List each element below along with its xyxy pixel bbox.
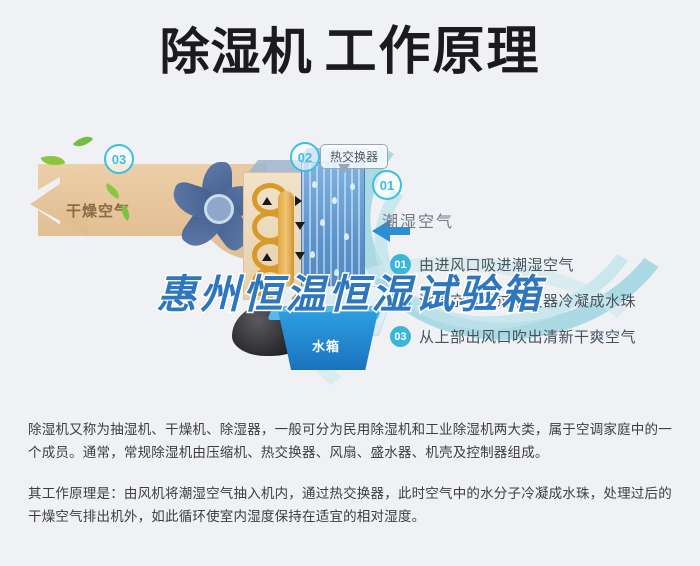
flow-arrow-up-icon <box>262 253 272 261</box>
dry-air-label: 干燥空气 <box>66 200 130 221</box>
callout-pointer-icon <box>338 164 350 174</box>
dehumidifier-diagram: 干燥空气 <box>0 108 700 390</box>
water-droplet-icon <box>320 219 325 226</box>
water-droplet-icon <box>344 233 349 240</box>
water-droplet-icon <box>350 183 355 190</box>
water-droplet-icon <box>310 251 315 258</box>
watermark-text: 惠州恒温恒湿试验箱 <box>0 262 700 320</box>
water-tank-label: 水箱 <box>312 336 340 355</box>
list-item: 03 从上部出风口吹出清新干爽空气 <box>390 326 682 347</box>
water-droplet-icon <box>312 181 317 188</box>
page-title: 除湿机工作原理 <box>0 22 700 83</box>
flow-arrow-down-icon <box>295 222 305 230</box>
step-text: 从上部出风口吹出清新干爽空气 <box>419 326 636 347</box>
leaf-icon <box>73 131 93 152</box>
callout-badge-03: 03 <box>104 144 134 174</box>
step-number-badge: 03 <box>390 326 411 347</box>
fan-hub-icon <box>204 194 234 224</box>
description-paragraph-1: 除湿机又称为抽湿机、干燥机、除湿器，一般可分为民用除湿机和工业除湿机两大类，属于… <box>28 418 676 464</box>
heat-exchanger-callout: 热交换器 <box>320 144 388 169</box>
description-block: 除湿机又称为抽湿机、干燥机、除湿器，一般可分为民用除湿机和工业除湿机两大类，属于… <box>28 418 676 528</box>
page-title-primary: 除湿机 <box>159 23 312 82</box>
flow-arrow-right-icon <box>295 196 302 206</box>
humid-air-label: 潮湿空气 <box>382 208 454 232</box>
page-title-secondary: 工作原理 <box>324 22 540 83</box>
infographic-page: 除湿机工作原理 干燥空气 <box>0 0 700 566</box>
flow-arrow-down-icon <box>295 252 305 260</box>
callout-badge-02: 02 <box>290 142 320 172</box>
callout-badge-01: 01 <box>372 170 402 200</box>
flow-arrow-up-icon <box>262 197 272 205</box>
water-droplet-icon <box>332 197 337 204</box>
description-paragraph-2: 其工作原理是：由风机将潮湿空气抽入机内，通过热交换器，此时空气中的水分子冷凝成水… <box>28 482 676 528</box>
